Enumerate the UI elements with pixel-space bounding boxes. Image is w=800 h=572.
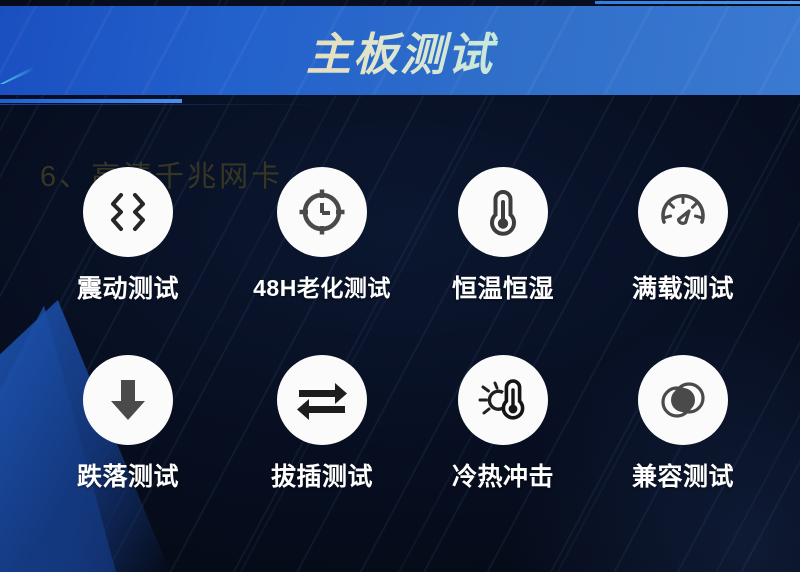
test-items-row-1: 震动测试 — [0, 120, 800, 308]
test-item-thermal-shock[interactable]: 冷热冲击 — [428, 355, 578, 493]
banner-underline-accent — [0, 99, 182, 103]
slide-root: 6、高清千兆网卡 主板测试 震动测试 — [0, 0, 800, 572]
test-item-label: 恒温恒湿 — [428, 269, 578, 305]
test-item-label: 跌落测试 — [53, 457, 203, 493]
sun-thermometer-icon — [458, 355, 548, 445]
header-banner: 主板测试 — [0, 6, 800, 95]
test-item-label: 兼容测试 — [608, 457, 758, 493]
test-item-drop[interactable]: 跌落测试 — [53, 355, 203, 493]
speedometer-icon — [638, 167, 728, 257]
banner-underline-thin — [0, 104, 330, 105]
test-item-label: 满载测试 — [608, 269, 758, 305]
thermometer-icon — [458, 167, 548, 257]
test-item-aging-48h[interactable]: 48H老化测试 — [247, 167, 397, 303]
test-item-label: 冷热冲击 — [428, 457, 578, 493]
test-item-compatibility[interactable]: 兼容测试 — [608, 355, 758, 493]
test-item-full-load[interactable]: 满载测试 — [608, 167, 758, 305]
test-item-label: 48H老化测试 — [247, 269, 397, 303]
test-item-temp-humidity[interactable]: 恒温恒湿 — [428, 167, 578, 305]
bidirectional-arrows-icon — [277, 355, 367, 445]
vibration-wave-icon — [83, 167, 173, 257]
test-item-label: 震动测试 — [53, 269, 203, 305]
test-item-label: 拔插测试 — [247, 457, 397, 493]
test-items-grid: 震动测试 — [0, 120, 800, 496]
page-title: 主板测试 — [0, 6, 800, 95]
overlapping-circles-icon — [638, 355, 728, 445]
test-items-row-2: 跌落测试 拔插测试 — [0, 308, 800, 496]
test-item-vibration[interactable]: 震动测试 — [53, 167, 203, 305]
top-accent-hairline — [595, 1, 800, 4]
test-item-plug-unplug[interactable]: 拔插测试 — [247, 355, 397, 493]
down-arrow-icon — [83, 355, 173, 445]
clock-icon — [277, 167, 367, 257]
